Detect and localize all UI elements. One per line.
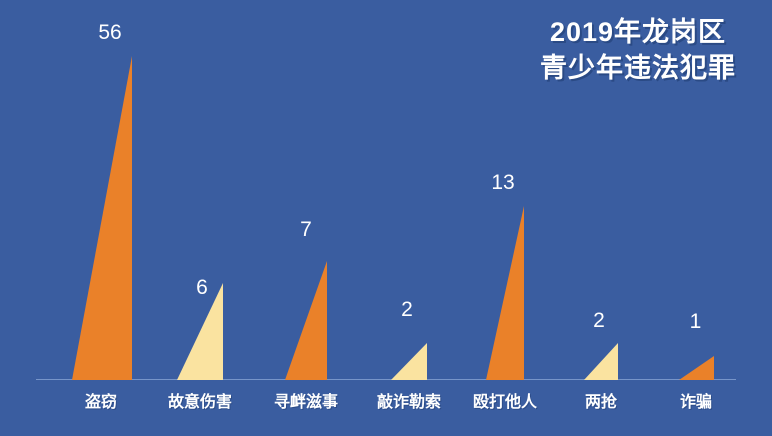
bar-3 (285, 261, 327, 380)
bar-1 (72, 56, 132, 380)
bar-value-label-2: 6 (179, 277, 225, 299)
axis-baseline (36, 379, 736, 380)
bar-value-label-4: 2 (389, 299, 425, 321)
plot-area: 56盗窃6故意伤害7寻衅滋事2敲诈勒索13殴打他人2两抢1诈骗 (0, 0, 772, 436)
chart-root: 2019年龙岗区 青少年违法犯罪 56盗窃6故意伤害7寻衅滋事2敲诈勒索13殴打… (0, 0, 772, 436)
bar-value-label-3: 7 (285, 219, 327, 241)
bar-7 (679, 356, 714, 380)
bar-value-label-6: 2 (582, 310, 616, 332)
bar-shape-4 (391, 343, 427, 380)
category-label-2: 故意伤害 (140, 393, 260, 413)
bar-shape-5 (486, 206, 524, 380)
bar-4 (391, 343, 427, 380)
category-label-7: 诈骗 (636, 393, 756, 413)
bar-value-label-1: 56 (80, 22, 140, 44)
bar-6 (584, 343, 618, 380)
bar-value-label-7: 1 (678, 311, 713, 333)
bar-value-label-5: 13 (484, 172, 522, 194)
bar-shape-3 (285, 261, 327, 380)
bar-shape-7 (679, 356, 714, 380)
bar-shape-1 (72, 56, 132, 380)
bar-shape-6 (584, 343, 618, 380)
category-label-3: 寻衅滋事 (246, 393, 366, 413)
bar-5 (486, 206, 524, 380)
